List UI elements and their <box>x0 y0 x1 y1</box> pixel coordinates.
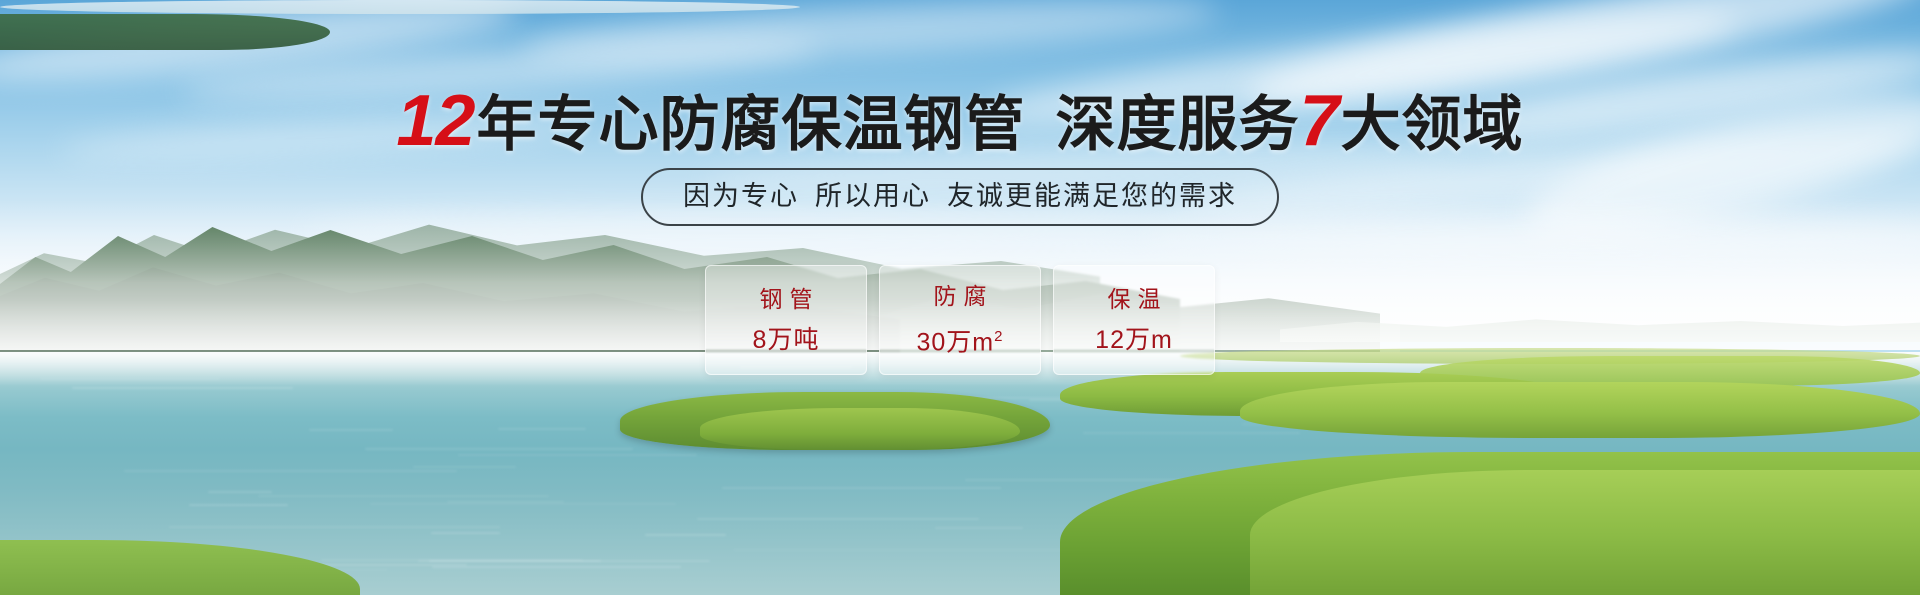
stat-card-value: 30万m2 <box>917 322 1004 357</box>
promo-banner: 12年专心防腐保温钢管深度服务7大领域 因为专心所以用心友诚更能满足您的需求 钢… <box>0 0 1920 595</box>
stat-value-text: 12万m <box>1095 326 1173 354</box>
headline-part-three: 大领域 <box>1341 91 1524 158</box>
headline-part-one: 年专心防腐保温钢管 <box>477 91 1026 158</box>
subtitle-segment-2: 所以用心 <box>815 181 931 211</box>
stat-value-text: 8万吨 <box>753 326 820 354</box>
stat-card-label: 钢管 <box>753 285 820 313</box>
banner-headline: 12年专心防腐保温钢管深度服务7大领域 <box>0 88 1920 158</box>
stat-card-anticorrosion: 防腐 30万m2 <box>879 265 1041 375</box>
stat-card-label: 保温 <box>1101 285 1168 313</box>
banner-subtitle-pill: 因为专心所以用心友诚更能满足您的需求 <box>641 168 1279 226</box>
stat-card-label: 防腐 <box>927 282 994 310</box>
stat-card-insulation: 保温 12万m <box>1053 265 1215 375</box>
stat-card-value: 12万m <box>1095 325 1173 355</box>
headline-part-two: 深度服务 <box>1056 91 1300 158</box>
stat-card-value: 8万吨 <box>753 325 820 355</box>
headline-years-number: 12 <box>396 81 474 161</box>
banner-content: 12年专心防腐保温钢管深度服务7大领域 因为专心所以用心友诚更能满足您的需求 钢… <box>0 0 1920 595</box>
stat-value-superscript: 2 <box>994 328 1003 345</box>
stat-value-text: 30万m <box>917 329 995 357</box>
headline-fields-number: 7 <box>1300 81 1339 161</box>
banner-subtitle-wrapper: 因为专心所以用心友诚更能满足您的需求 <box>0 168 1920 226</box>
subtitle-segment-1: 因为专心 <box>683 181 799 211</box>
stat-card-steel-pipe: 钢管 8万吨 <box>705 265 867 375</box>
stat-card-group: 钢管 8万吨 防腐 30万m2 保温 12万m <box>0 265 1920 375</box>
subtitle-segment-3: 友诚更能满足您的需求 <box>947 181 1237 211</box>
